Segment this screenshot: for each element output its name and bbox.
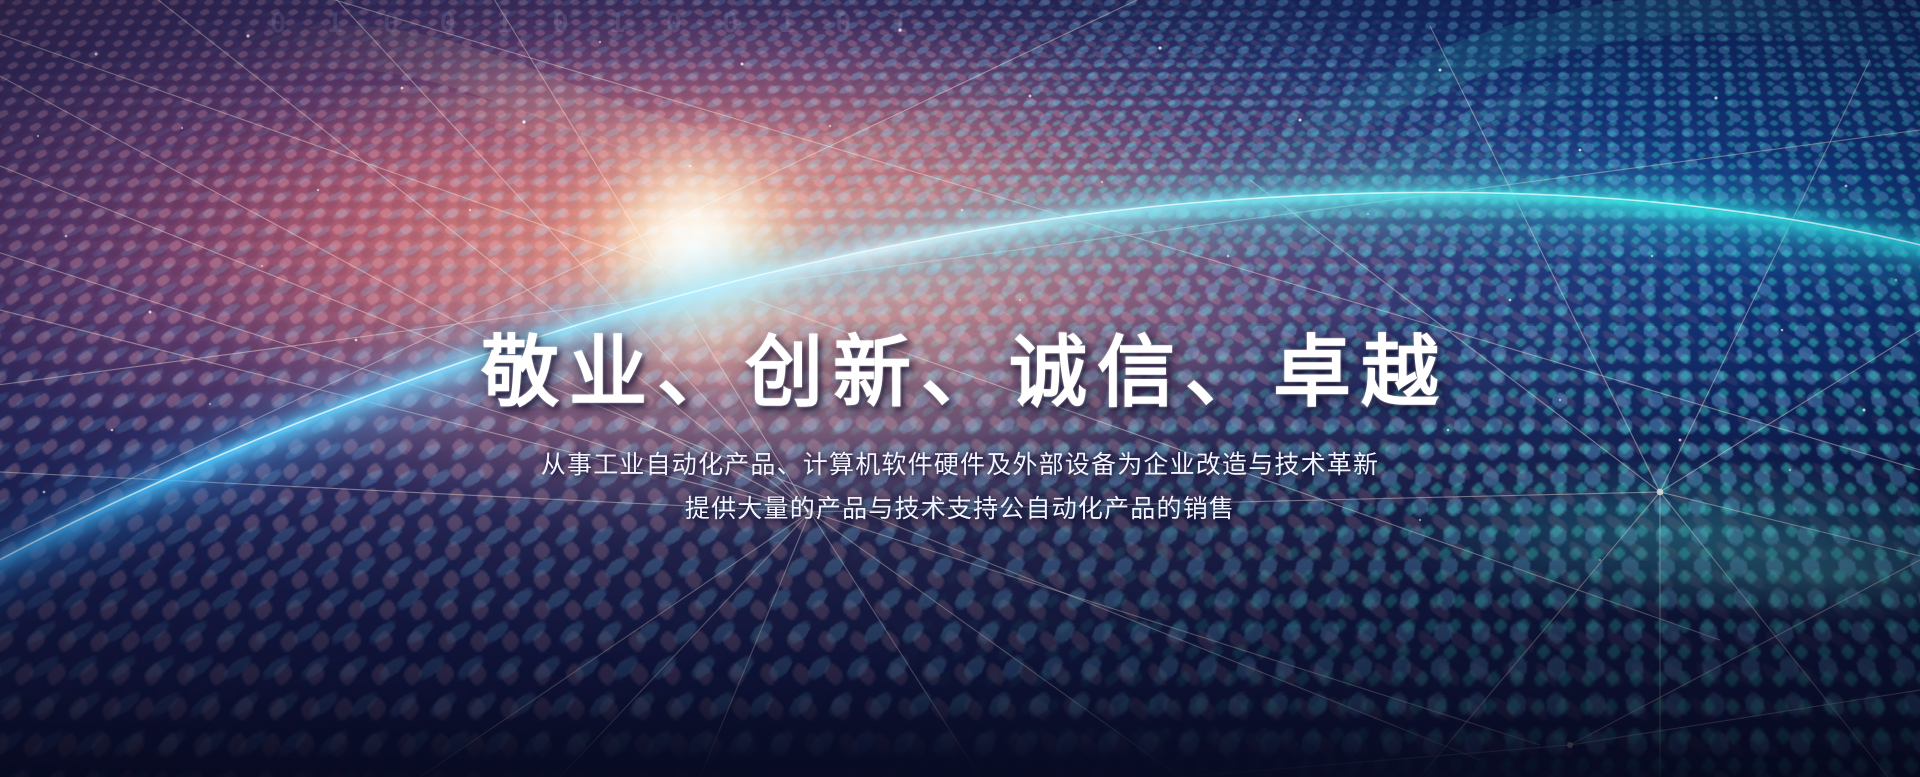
- binary-code-ghost-text: 0 1 0 0 1 0 1 0 0 1 0 1: [270, 6, 1920, 40]
- hero-copy-block: 敬业、创新、诚信、卓越 从事工业自动化产品、计算机软件硬件及外部设备为企业改造与…: [0, 330, 1920, 531]
- subtitle-line-1: 从事工业自动化产品、计算机软件硬件及外部设备为企业改造与技术革新: [0, 444, 1920, 488]
- subtitle-line-2: 提供大量的产品与技术支持公自动化产品的销售: [0, 488, 1920, 532]
- hero-banner: 0 1 0 0 1 0 1 0 0 1 0 1: [0, 0, 1920, 777]
- page-title: 敬业、创新、诚信、卓越: [0, 330, 1920, 414]
- subtitle-block: 从事工业自动化产品、计算机软件硬件及外部设备为企业改造与技术革新 提供大量的产品…: [0, 444, 1920, 531]
